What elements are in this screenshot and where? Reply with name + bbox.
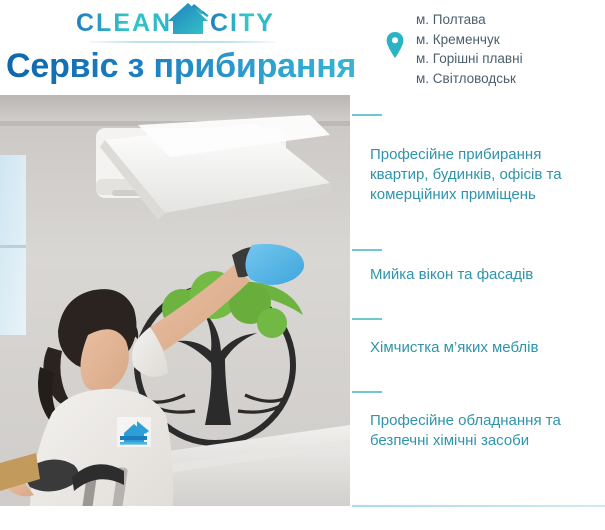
feature-item: Професійне прибирання квартир, будинків,… (370, 145, 602, 205)
feature-item: Мийка вікон та фасадів (370, 265, 602, 285)
list-item: м. Кременчук (416, 30, 523, 50)
hero-photo (0, 95, 350, 506)
cleaning-service-banner: CLEAN CITY Сервіс з прибирання (0, 0, 605, 530)
logo-word-city: CITY (210, 10, 275, 36)
logo-row: CLEAN CITY (76, 2, 291, 36)
locations-block: м. Полтава м. Кременчук м. Горішні плавн… (386, 10, 601, 90)
features-panel: Професійне прибирання квартир, будинків,… (350, 95, 605, 530)
feature-divider (352, 249, 382, 251)
logo-underline-divider (90, 41, 275, 43)
feature-divider (352, 114, 382, 116)
photo-illustration (0, 95, 350, 506)
brand-logo[interactable]: CLEAN CITY (76, 2, 291, 44)
feature-label: Хімчистка м’яких меблів (370, 338, 602, 358)
feature-label: Професійне прибирання квартир, будинків,… (370, 145, 602, 205)
feature-item: Професійне обладнання та безпечні хімічн… (370, 411, 602, 451)
feature-divider (352, 318, 382, 320)
page-title: Сервіс з прибирання (6, 46, 366, 86)
logo-word-clean: CLEAN (76, 10, 172, 36)
house-broom-icon (164, 0, 212, 38)
list-item: м. Горішні плавні (416, 49, 523, 69)
list-item: м. Полтава (416, 10, 523, 30)
header: CLEAN CITY Сервіс з прибирання (0, 0, 605, 95)
list-item: м. Світловодськ (416, 69, 523, 89)
feature-label: Мийка вікон та фасадів (370, 265, 602, 285)
feature-divider (352, 391, 382, 393)
bottom-divider (352, 505, 605, 507)
map-pin-icon (386, 32, 404, 58)
feature-item: Хімчистка м’яких меблів (370, 338, 602, 358)
city-list: м. Полтава м. Кременчук м. Горішні плавн… (416, 10, 523, 88)
feature-label: Професійне обладнання та безпечні хімічн… (370, 411, 602, 451)
